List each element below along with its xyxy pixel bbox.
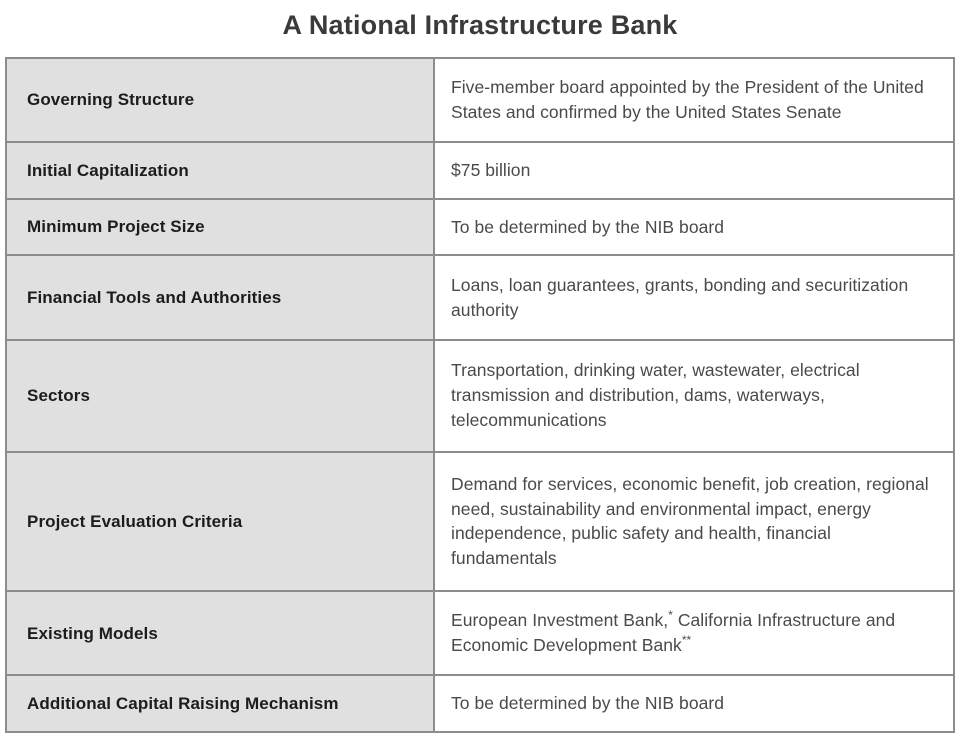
infrastructure-bank-table: Governing Structure Five-member board ap… xyxy=(5,57,955,733)
table-row: Governing Structure Five-member board ap… xyxy=(7,59,953,142)
row-value-minimum-project-size: To be determined by the NIB board xyxy=(434,199,953,256)
table-row: Minimum Project Size To be determined by… xyxy=(7,199,953,256)
row-value-text: Transportation, drinking water, wastewat… xyxy=(451,358,931,433)
row-label-initial-capitalization: Initial Capitalization xyxy=(7,142,434,199)
row-value-text: $75 billion xyxy=(451,158,931,183)
row-label-additional-capital-raising-mechanism: Additional Capital Raising Mechanism xyxy=(7,675,434,731)
row-label-minimum-project-size: Minimum Project Size xyxy=(7,199,434,256)
row-label-project-evaluation-criteria: Project Evaluation Criteria xyxy=(7,452,434,592)
row-value-initial-capitalization: $75 billion xyxy=(434,142,953,199)
row-value-text: European Investment Bank,* California In… xyxy=(451,608,931,658)
footnote-marker-double-asterisk: ** xyxy=(682,633,691,647)
document-page: A National Infrastructure Bank Governing… xyxy=(0,0,960,742)
table-row: Additional Capital Raising Mechanism To … xyxy=(7,675,953,731)
row-value-text: To be determined by the NIB board xyxy=(451,215,931,240)
row-value-text: Demand for services, economic benefit, j… xyxy=(451,472,931,571)
row-label-sectors: Sectors xyxy=(7,340,434,452)
row-value-text: To be determined by the NIB board xyxy=(451,691,931,716)
table-row: Financial Tools and Authorities Loans, l… xyxy=(7,255,953,339)
table: Governing Structure Five-member board ap… xyxy=(7,59,953,731)
table-row: Existing Models European Investment Bank… xyxy=(7,591,953,675)
row-label-governing-structure: Governing Structure xyxy=(7,59,434,142)
row-value-governing-structure: Five-member board appointed by the Presi… xyxy=(434,59,953,142)
table-row: Project Evaluation Criteria Demand for s… xyxy=(7,452,953,592)
row-label-financial-tools-and-authorities: Financial Tools and Authorities xyxy=(7,255,434,339)
row-value-financial-tools-and-authorities: Loans, loan guarantees, grants, bonding … xyxy=(434,255,953,339)
row-value-project-evaluation-criteria: Demand for services, economic benefit, j… xyxy=(434,452,953,592)
row-value-existing-models: European Investment Bank,* California In… xyxy=(434,591,953,675)
row-value-text-part-1: European Investment Bank, xyxy=(451,610,668,630)
table-row: Initial Capitalization $75 billion xyxy=(7,142,953,199)
page-title: A National Infrastructure Bank xyxy=(0,0,960,50)
table-body: Governing Structure Five-member board ap… xyxy=(7,59,953,731)
row-value-text: Loans, loan guarantees, grants, bonding … xyxy=(451,273,931,323)
row-value-sectors: Transportation, drinking water, wastewat… xyxy=(434,340,953,452)
row-label-existing-models: Existing Models xyxy=(7,591,434,675)
table-row: Sectors Transportation, drinking water, … xyxy=(7,340,953,452)
row-value-text: Five-member board appointed by the Presi… xyxy=(451,75,931,125)
row-value-additional-capital-raising-mechanism: To be determined by the NIB board xyxy=(434,675,953,731)
